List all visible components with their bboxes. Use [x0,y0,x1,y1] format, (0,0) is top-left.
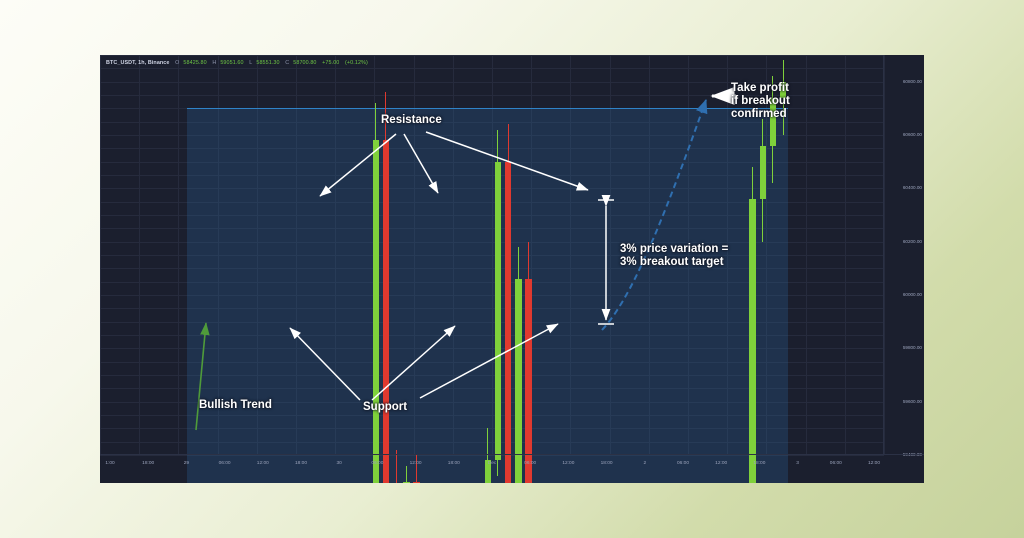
candlestick[interactable] [444,55,450,455]
take-profit-label-line3: confirmed [731,108,787,122]
candlestick[interactable] [169,55,175,455]
resistance-label: Resistance [381,114,442,128]
price-axis[interactable]: 58700.80 60800.0060600.0060400.0060200.0… [883,55,924,455]
legend-symbol[interactable]: BTC_USDT, 1h, Binance [106,60,170,66]
time-axis-label: 12:00 [257,461,269,466]
time-axis-label: 06:00 [830,461,842,466]
time-axis-label: 12:00 [410,461,422,466]
price-axis-label: 60000.00 [903,292,922,297]
time-axis-label: 12:00 [562,461,574,466]
candlestick[interactable] [566,55,572,455]
time-axis-label: 06:00 [524,461,536,466]
candlestick[interactable] [607,55,613,455]
candlestick[interactable] [454,55,460,455]
candlestick[interactable] [586,55,592,455]
candle-body [760,146,766,199]
candlestick[interactable] [485,55,491,455]
time-axis-label: Dec [488,461,497,466]
candlestick[interactable] [240,55,246,455]
time-axis-label: 30 [337,461,342,466]
candlestick[interactable] [464,55,470,455]
candlestick[interactable] [128,55,134,455]
time-axis-label: 3 [796,461,799,466]
candle-body [505,162,511,483]
chart-legend: BTC_USDT, 1h, Binance O58425.80 H59051.6… [106,60,372,66]
candlestick[interactable] [189,55,195,455]
candlestick[interactable] [322,55,328,455]
price-axis-label: 60400.00 [903,185,922,190]
candlestick[interactable] [505,55,511,455]
candlestick[interactable] [291,55,297,455]
candlestick[interactable] [220,55,226,455]
candle-body [383,140,389,483]
candlestick[interactable] [250,55,256,455]
candlestick[interactable] [301,55,307,455]
legend-low-label: L [249,60,252,66]
candlestick[interactable] [312,55,318,455]
time-axis-label: 18:00 [142,461,154,466]
candlestick[interactable] [149,55,155,455]
legend-open-label: O [175,60,179,66]
candlestick[interactable] [546,55,552,455]
time-axis-label: 18:00 [601,461,613,466]
gridline-vertical [806,55,807,455]
candlestick[interactable] [271,55,277,455]
time-axis-label: 12:00 [868,461,880,466]
candlestick[interactable] [332,55,338,455]
candlestick[interactable] [576,55,582,455]
candlestick[interactable] [536,55,542,455]
candlestick[interactable] [373,55,379,455]
candlestick[interactable] [597,55,603,455]
gridline-vertical [845,55,846,455]
candlestick[interactable] [474,55,480,455]
time-axis-label: 2 [643,461,646,466]
time-axis-label: 06:00 [371,461,383,466]
time-axis-label: 06:00 [677,461,689,466]
time-axis-label: 12:00 [715,461,727,466]
candlestick[interactable] [108,55,114,455]
price-axis-label: 60800.00 [903,79,922,84]
candlestick[interactable] [352,55,358,455]
candlestick[interactable] [556,55,562,455]
time-axis-label: 29 [184,461,189,466]
time-axis-label: 18:00 [753,461,765,466]
legend-change: +75.00 [322,60,339,66]
trading-chart-window[interactable]: BTC_USDT, 1h, Binance O58425.80 H59051.6… [100,55,924,483]
candlestick[interactable] [261,55,267,455]
candlestick[interactable] [362,55,368,455]
legend-high-value: 59051.60 [220,60,243,66]
legend-high-label: H [212,60,216,66]
take-profit-label-line2: if breakout [731,95,790,109]
candlestick[interactable] [230,55,236,455]
price-axis-label: 59600.00 [903,399,922,404]
page-root: BTC_USDT, 1h, Binance O58425.80 H59051.6… [0,0,1024,538]
legend-low-value: 58551.30 [256,60,279,66]
candlestick[interactable] [159,55,165,455]
price-axis-label: 60200.00 [903,239,922,244]
price-axis-label: 59800.00 [903,345,922,350]
bullish-trend-label: Bullish Trend [199,399,272,413]
time-axis-label: 18:00 [448,461,460,466]
gridline-vertical [100,55,101,455]
price-variation-label-line1: 3% price variation = [620,243,728,257]
candlestick[interactable] [495,55,501,455]
candlestick[interactable] [200,55,206,455]
candlestick[interactable] [515,55,521,455]
time-axis-label: 06:00 [219,461,231,466]
candle-body [749,199,755,483]
take-profit-label-line1: Take profit [731,82,789,96]
legend-open-value: 58425.80 [183,60,206,66]
time-axis-label: 18:00 [295,461,307,466]
candlestick[interactable] [210,55,216,455]
candle-body [495,162,501,461]
legend-close-label: C [285,60,289,66]
candle-body [525,279,531,483]
candlestick[interactable] [138,55,144,455]
time-axis-label: 1:00 [105,461,114,466]
price-axis-label: 60600.00 [903,132,922,137]
candle-body [515,279,521,483]
candle-body [373,140,379,483]
time-axis[interactable]: 1:0018:002906:0012:0018:003006:0012:0018… [100,454,924,483]
candlestick[interactable] [342,55,348,455]
price-variation-label-line2: 3% breakout target [620,256,724,270]
legend-change-pct: (+0.12%) [345,60,368,66]
candlestick[interactable] [281,55,287,455]
candlestick[interactable] [118,55,124,455]
candlestick[interactable] [525,55,531,455]
support-label: Support [363,401,407,415]
legend-close-value: 58700.80 [293,60,316,66]
candlestick[interactable] [179,55,185,455]
